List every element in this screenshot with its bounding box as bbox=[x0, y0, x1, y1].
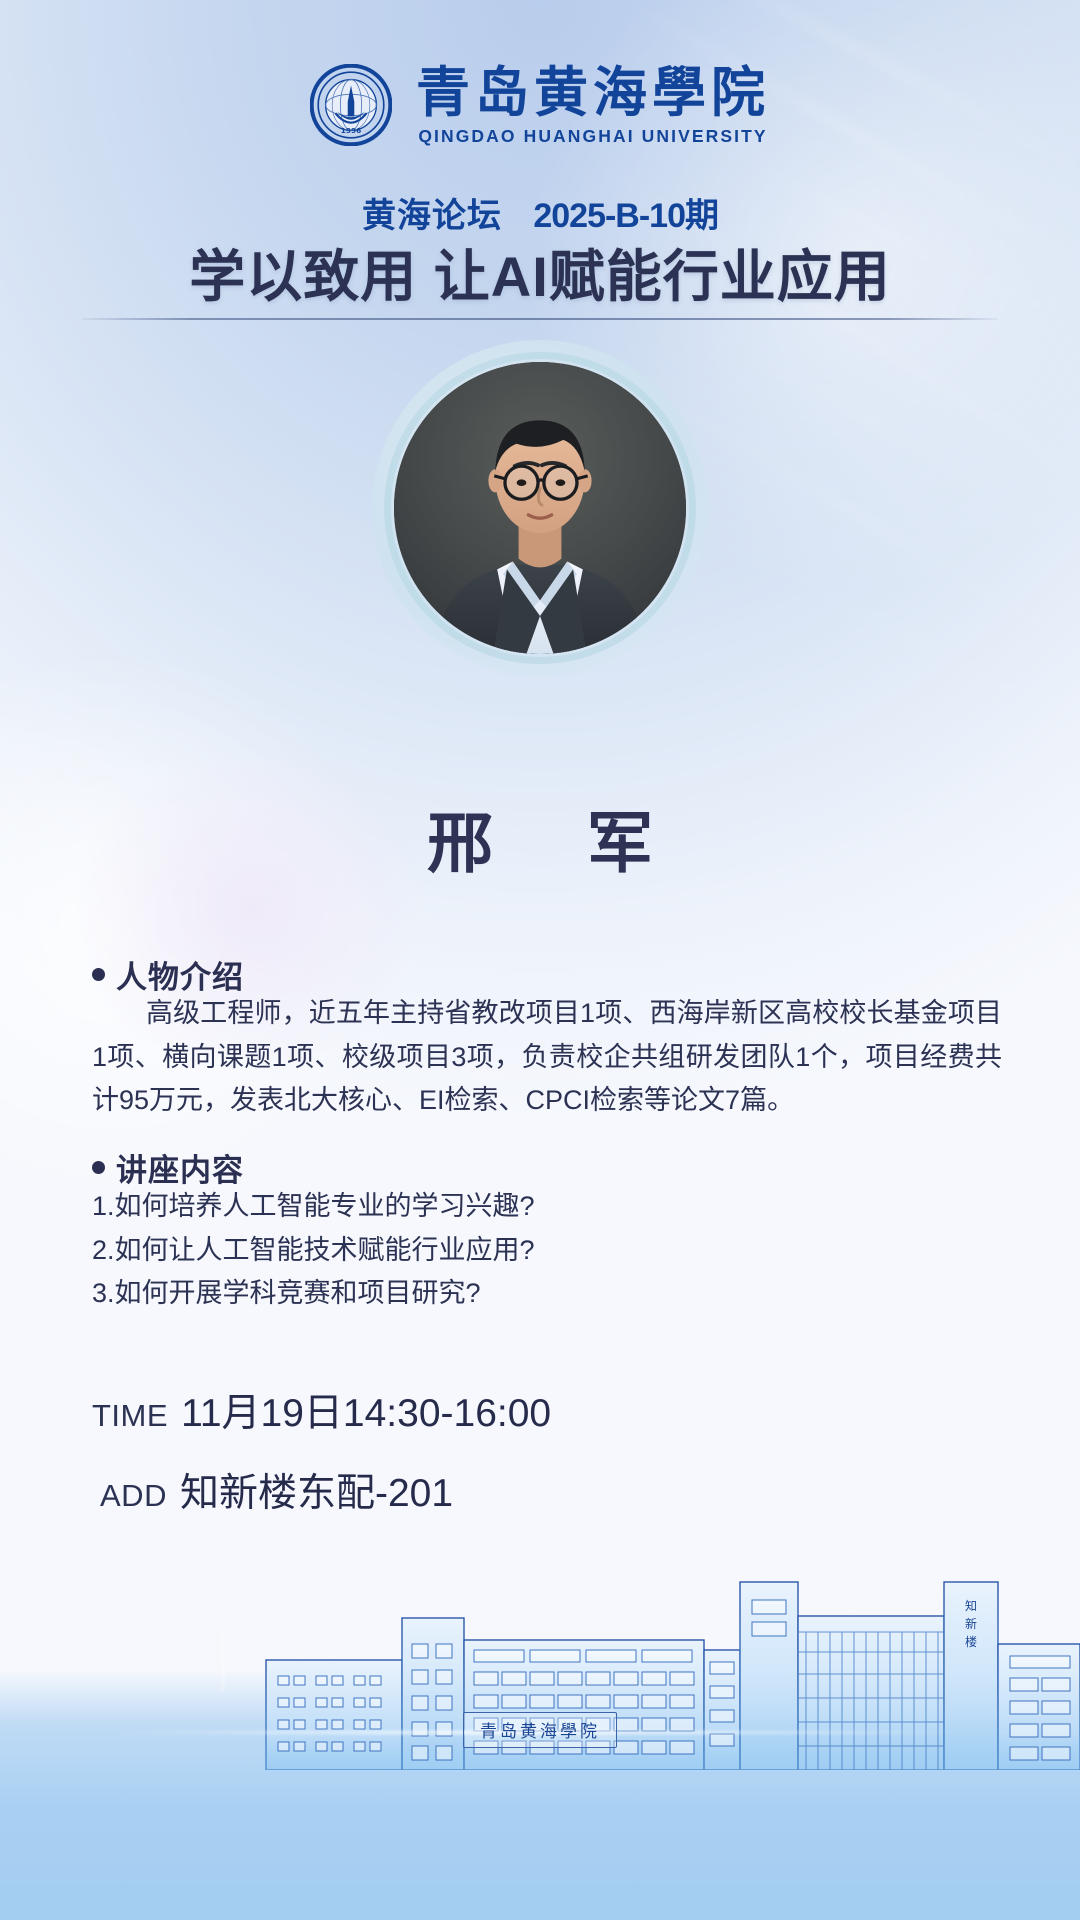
time-label: TIME bbox=[92, 1398, 168, 1434]
address-label: ADD bbox=[100, 1478, 167, 1514]
svg-text:1996: 1996 bbox=[341, 126, 362, 135]
event-address: ADD 知新楼东配-201 bbox=[92, 1462, 453, 1518]
brand-name-en: QINGDAO HUANGHAI UNIVERSITY bbox=[418, 126, 767, 147]
svg-text:楼: 楼 bbox=[965, 1634, 977, 1649]
portrait-photo bbox=[394, 362, 686, 654]
topics-heading-label: 讲座内容 bbox=[116, 1145, 244, 1190]
campus-ground bbox=[0, 1670, 1080, 1920]
brand-logo: 1996 青岛黄海學院 QINGDAO HUANGHAI UNIVERSITY bbox=[0, 64, 1080, 147]
list-item: 1.如何培养人工智能专业的学习兴趣? bbox=[92, 1185, 1002, 1229]
speaker-portrait bbox=[380, 348, 700, 668]
horizon-glow bbox=[108, 1731, 972, 1734]
kicker-prefix: 黄海论坛 bbox=[362, 197, 502, 235]
title-divider bbox=[82, 318, 998, 320]
brand-name-cn: 青岛黄海學院 bbox=[416, 64, 770, 121]
list-item: 3.如何开展学科竞赛和项目研究? bbox=[92, 1272, 1002, 1316]
event-time: TIME 11月19日14:30-16:00 bbox=[92, 1382, 551, 1438]
kicker-issue: 2025-B-10期 bbox=[533, 197, 718, 235]
building-sign-icon: 知 bbox=[965, 1599, 977, 1613]
university-seal-icon: 1996 bbox=[310, 64, 392, 146]
page-title: 学以致用 让AI赋能行业应用 bbox=[0, 232, 1080, 313]
bio-text: 高级工程师，近五年主持省教改项目1项、西海岸新区高校校长基金项目1项、横向课题1… bbox=[92, 992, 1002, 1123]
campus-illustration: 知 新 楼 青岛黄海學院 bbox=[0, 1500, 1080, 1920]
poster-root: 1996 青岛黄海學院 QINGDAO HUANGHAI UNIVERSITY … bbox=[0, 0, 1080, 1920]
topics-list: 1.如何培养人工智能专业的学习兴趣? 2.如何让人工智能技术赋能行业应用? 3.… bbox=[92, 1185, 1002, 1316]
speaker-name: 邢 军 bbox=[0, 790, 1080, 886]
bullet-dot-icon bbox=[92, 968, 105, 981]
list-item: 2.如何让人工智能技术赋能行业应用? bbox=[92, 1229, 1002, 1273]
time-value: 11月19日14:30-16:00 bbox=[181, 1382, 551, 1438]
campus-plaque: 青岛黄海學院 bbox=[463, 1712, 617, 1748]
bullet-dot-icon bbox=[92, 1161, 105, 1174]
campus-building-icon: 知 新 楼 bbox=[0, 1540, 1080, 1770]
bio-heading: 人物介绍 bbox=[92, 952, 1002, 997]
bio-heading-label: 人物介绍 bbox=[116, 952, 244, 997]
forum-kicker: 黄海论坛 2025-B-10期 bbox=[0, 188, 1080, 237]
address-value: 知新楼东配-201 bbox=[180, 1462, 453, 1518]
svg-text:新: 新 bbox=[965, 1616, 977, 1631]
topics-heading: 讲座内容 bbox=[92, 1145, 1002, 1190]
